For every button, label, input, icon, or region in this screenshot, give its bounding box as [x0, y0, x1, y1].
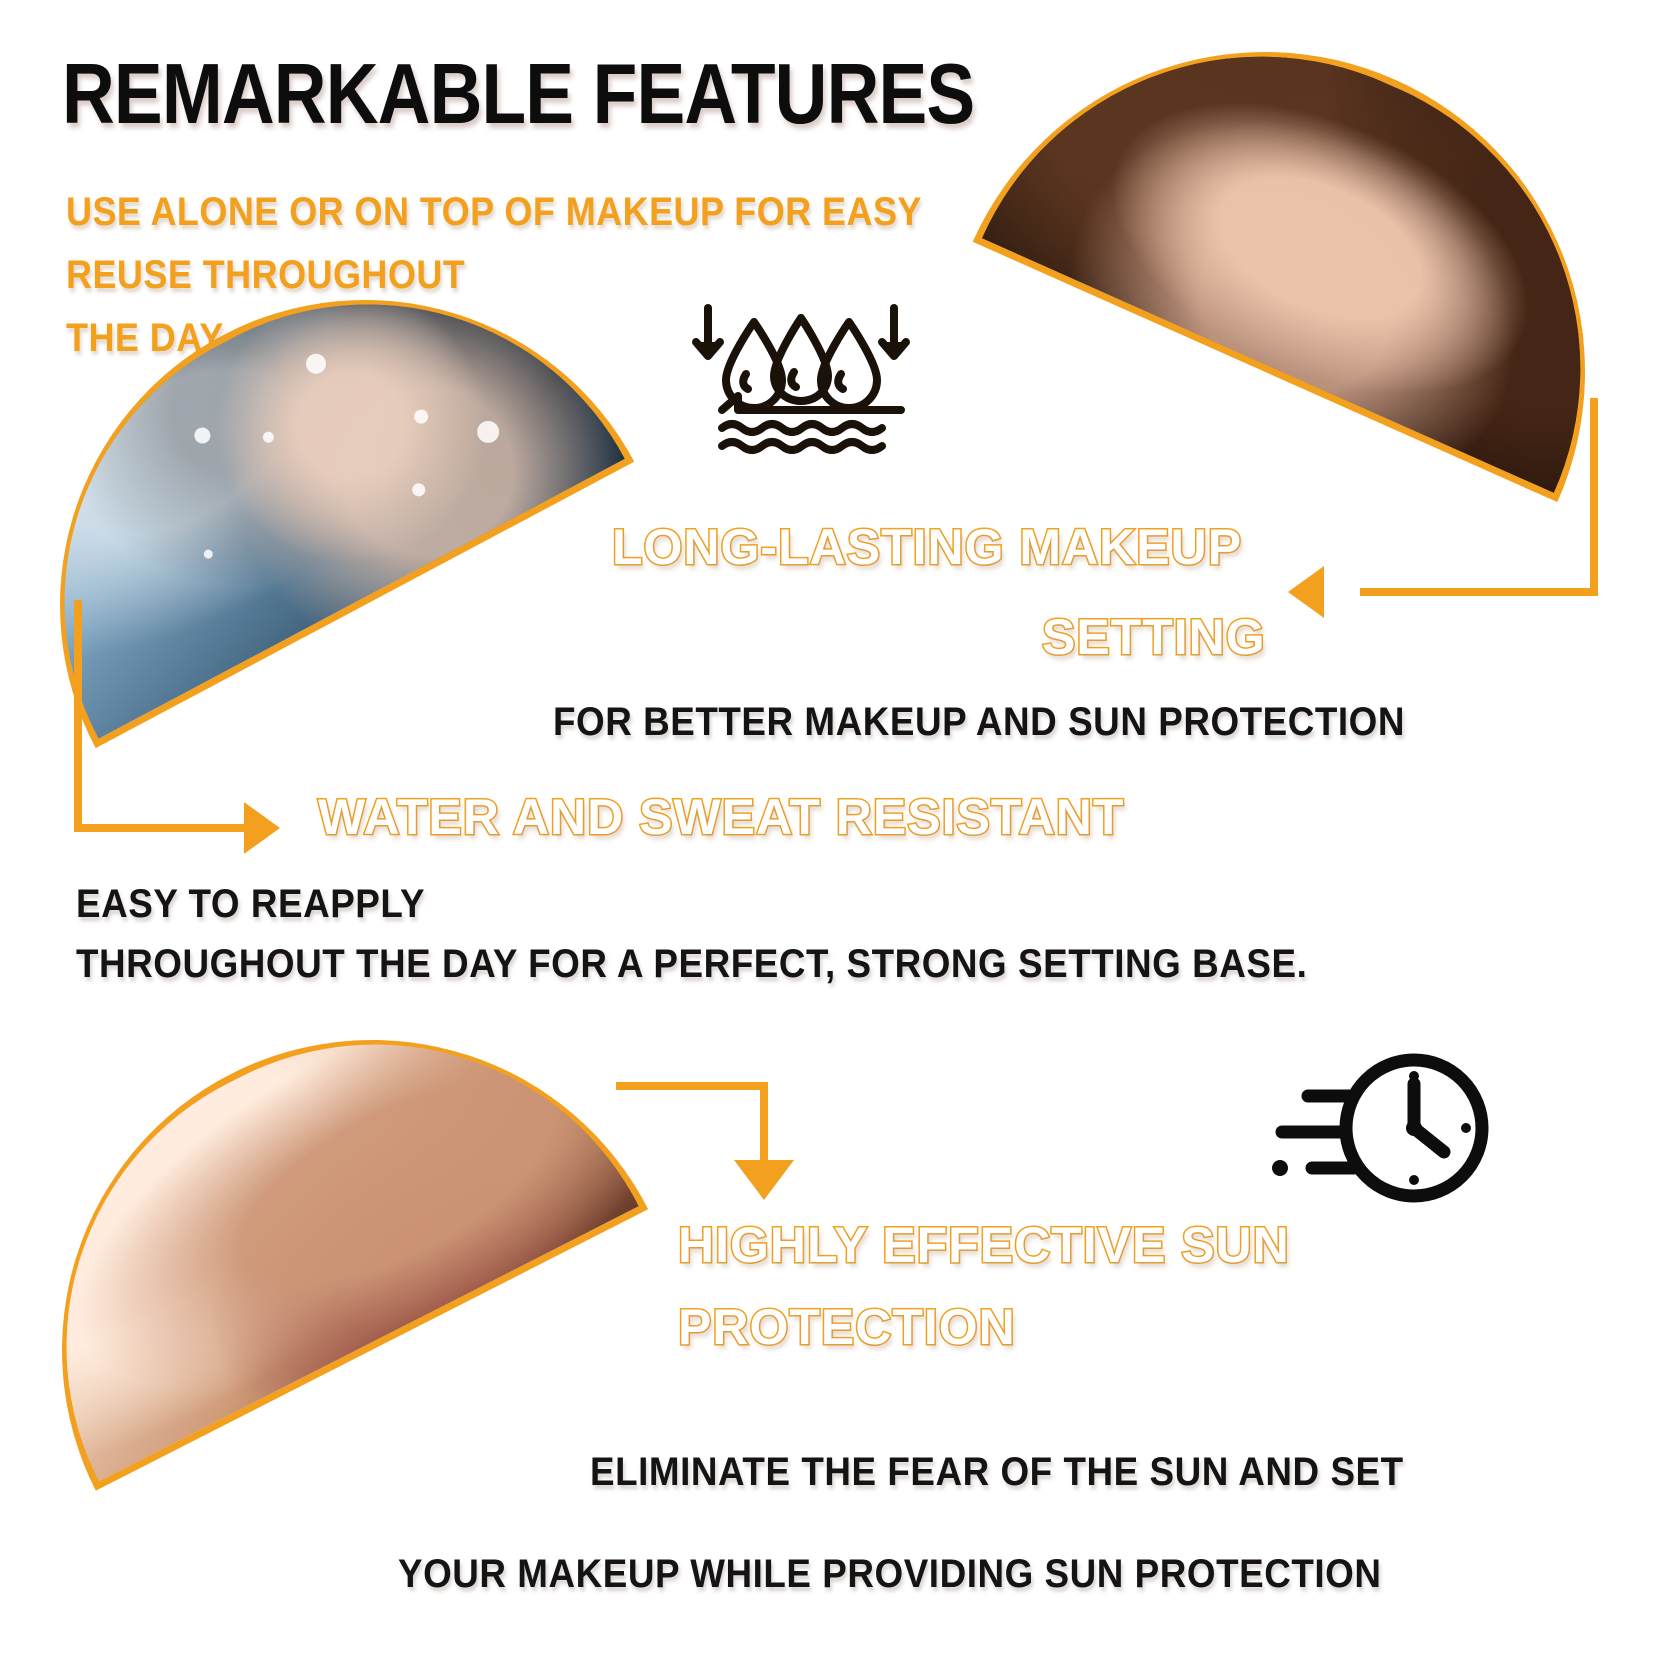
arrow-shaft-vertical [1590, 398, 1598, 596]
clock-tick [1461, 1123, 1471, 1133]
arrow-shaft-horizontal [1360, 588, 1598, 596]
feature-long-lasting-heading-line-1: LONG-LASTING MAKEUP [612, 518, 1242, 576]
arrow-head-down [734, 1160, 794, 1200]
arrow-shaft-horizontal [616, 1082, 768, 1090]
speed-dot [1272, 1160, 1288, 1176]
clock-center-dot [1406, 1120, 1422, 1136]
feature-long-lasting-description: FOR BETTER MAKEUP AND SUN PROTECTION [553, 700, 1405, 745]
feature-sun-protection-heading-line-2: PROTECTION [678, 1298, 1016, 1356]
curly-hair-model-photo [973, 0, 1680, 502]
feature-water-resistant-description-line-1: EASY TO REAPPLY [76, 882, 425, 927]
clock-tick [1409, 1175, 1419, 1185]
feature-sun-protection-heading-line-1: HIGHLY EFFECTIVE SUN [678, 1216, 1290, 1274]
feature-sun-protection-description-line-2: YOUR MAKEUP WHILE PROVIDING SUN PROTECTI… [398, 1552, 1381, 1597]
fast-clock-icon [1266, 1040, 1491, 1215]
water-droplets-repellent-icon [686, 300, 916, 460]
arrow-head-left [1288, 566, 1324, 618]
page-title: REMARKABLE FEATURES [62, 46, 974, 144]
photo-surface [982, 0, 1678, 493]
arrow-shaft-vertical [74, 600, 82, 832]
arrow-shaft-horizontal [74, 824, 252, 832]
infographic-canvas: REMARKABLE FEATURES USE ALONE OR ON TOP … [0, 0, 1680, 1680]
powder-swatch-face-photo [0, 933, 648, 1491]
feature-long-lasting-heading-line-2: SETTING [1042, 608, 1266, 666]
photo-surface [0, 942, 639, 1481]
feature-sun-protection-description-line-1: ELIMINATE THE FEAR OF THE SUN AND SET [590, 1450, 1404, 1495]
arrow-head-right [244, 802, 280, 854]
feature-water-resistant-heading: WATER AND SWEAT RESISTANT [318, 788, 1124, 846]
feature-water-resistant-description-line-2: THROUGHOUT THE DAY FOR A PERFECT, STRONG… [76, 942, 1307, 987]
clock-tick [1409, 1071, 1419, 1081]
